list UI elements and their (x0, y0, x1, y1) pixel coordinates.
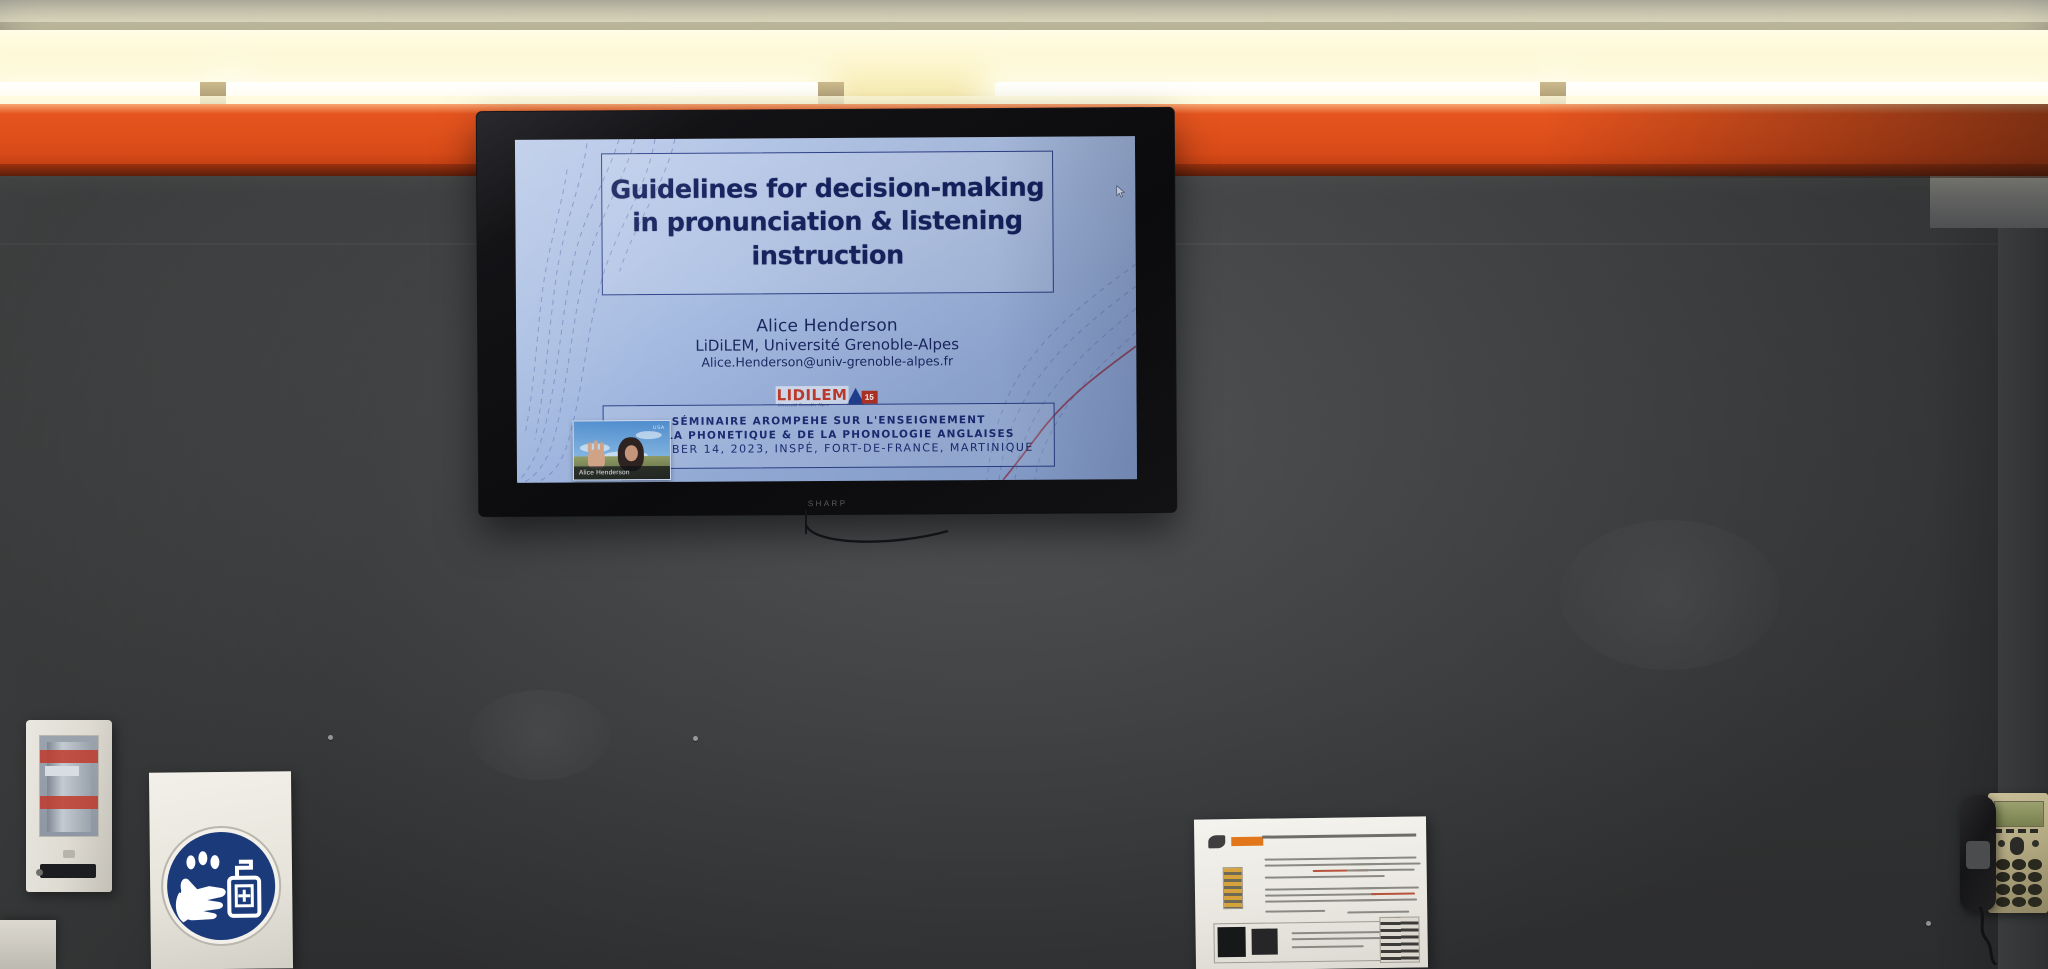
poster-text-line (1347, 899, 1417, 902)
telephone-display (1994, 801, 2044, 827)
poster-logos (1208, 835, 1263, 849)
dispenser-lever[interactable] (40, 864, 96, 878)
poster-photo (1251, 928, 1277, 954)
poster-text-line (1347, 886, 1419, 889)
keypad-key[interactable] (2012, 872, 2026, 883)
room-scene: Guidelines for decision-making in pronun… (0, 0, 2048, 969)
conference-line-3: NOVEMBER 14, 2023, INSPÉ, FORT-DE-FRANCE… (624, 441, 1034, 458)
wall-nail (693, 736, 698, 741)
avatar-face (625, 445, 638, 461)
beam-shadow-right (1540, 104, 2048, 178)
poster-text-line (1347, 862, 1421, 865)
webcam-name-bar: Alice Henderson (574, 466, 670, 480)
keypad-key[interactable] (1996, 872, 2010, 883)
wash-hands-icon (167, 832, 276, 941)
wall-nail (328, 735, 333, 740)
telephone-keypad[interactable] (1996, 859, 2042, 907)
sign-circle-background (167, 832, 276, 941)
poster-text-line (1371, 893, 1415, 896)
dispenser-indicator (36, 869, 43, 876)
wall-nail (1926, 921, 1931, 926)
hand-sanitizer-dispenser[interactable] (26, 720, 112, 892)
poster-barcode (1379, 916, 1420, 963)
wall-mounted-display[interactable]: Guidelines for decision-making in pronun… (477, 108, 1176, 516)
telephone-navigation-pad[interactable] (2010, 837, 2024, 855)
sponsor-logo-icon (1231, 837, 1263, 846)
telephone-base[interactable] (1988, 793, 2048, 913)
lidilem-logo: LIDILEM Université Grenoble Alpes 15 (776, 385, 878, 406)
wall-telephone[interactable] (1960, 785, 2048, 969)
hand-finger (600, 442, 604, 453)
keypad-key[interactable] (2012, 897, 2026, 908)
poster-heading-line (1262, 834, 1416, 839)
bottle-label-band (40, 750, 98, 763)
poster-photo (1217, 927, 1245, 957)
display-cable-loop (770, 525, 950, 549)
instruction-poster (1194, 816, 1428, 969)
wall-panel-lower-left (0, 920, 56, 969)
keypad-key[interactable] (1996, 884, 2010, 895)
keypad-key[interactable] (2028, 872, 2042, 883)
telephone-cord (1976, 907, 2016, 965)
telephone-softkeys[interactable] (1994, 829, 2042, 833)
poster-text-line (1347, 911, 1409, 914)
keypad-key[interactable] (2028, 897, 2042, 908)
anniversary-badge: 15 (861, 391, 877, 404)
keypad-key[interactable] (2012, 884, 2026, 895)
wall-smudge (1560, 520, 1780, 670)
slide-title-box: Guidelines for decision-making in pronun… (601, 151, 1054, 296)
keypad-key[interactable] (2028, 859, 2042, 870)
dispenser-nozzle (63, 850, 75, 858)
bottle-label-text (45, 766, 79, 776)
poster-text-line (1265, 910, 1325, 913)
poster-color-swatch (1223, 867, 1244, 909)
telephone-side-key[interactable] (2032, 840, 2039, 847)
author-name: Alice Henderson (602, 315, 1052, 338)
display-brand-label: SHARP (808, 499, 848, 508)
keypad-key[interactable] (2028, 884, 2042, 895)
keypad-key[interactable] (1996, 859, 2010, 870)
poster-text-line (1347, 869, 1415, 872)
display-screen[interactable]: Guidelines for decision-making in pronun… (515, 136, 1137, 483)
hand-finger (588, 442, 592, 452)
webcam-participant-name: Alice Henderson (574, 469, 630, 476)
hand-finger (594, 440, 598, 452)
telephone-handset[interactable] (1960, 795, 1996, 911)
author-email: Alice.Henderson@univ-grenoble-alpes.fr (602, 353, 1052, 372)
poster-text-line (1265, 875, 1385, 879)
poster-text-line (1347, 857, 1417, 860)
webcam-video-tile[interactable]: USA Alice Henderson (573, 420, 671, 481)
dispenser-window (39, 735, 99, 837)
poster-text-line (1265, 893, 1377, 897)
page-title: Guidelines for decision-making in pronun… (602, 172, 1052, 274)
webcam-corner-label: USA (653, 425, 665, 431)
handset-cradle-gap (1966, 841, 1990, 869)
wall-smudge (470, 690, 610, 780)
bottle-label-band (40, 796, 98, 809)
author-block: Alice Henderson LiDiLEM, Université Gren… (602, 315, 1052, 372)
handwashing-sign (149, 771, 293, 969)
keypad-key[interactable] (1996, 897, 2010, 908)
keypad-key[interactable] (2012, 859, 2026, 870)
organization-logo-icon (1208, 835, 1225, 848)
telephone-side-key[interactable] (1998, 840, 2005, 847)
mouse-cursor-icon (1116, 185, 1125, 198)
